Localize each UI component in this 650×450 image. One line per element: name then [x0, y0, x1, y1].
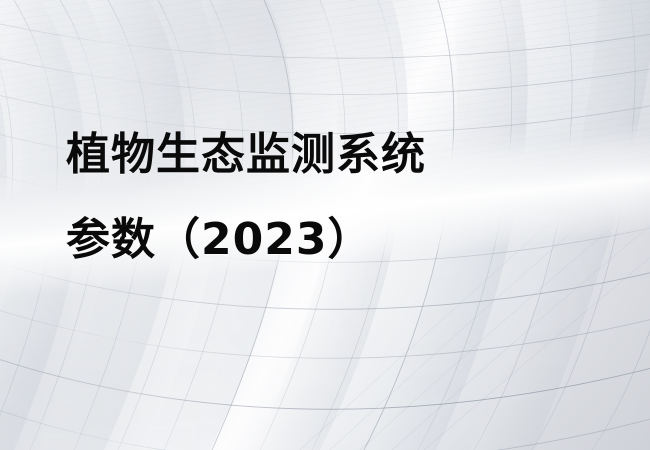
- page-title: 植物生态监测系统 参数（2023）: [66, 112, 606, 282]
- title-slide: 植物生态监测系统 参数（2023）: [0, 0, 650, 450]
- title-line-secondary: 参数（2023）: [66, 197, 606, 282]
- title-line-primary: 植物生态监测系统: [66, 112, 606, 197]
